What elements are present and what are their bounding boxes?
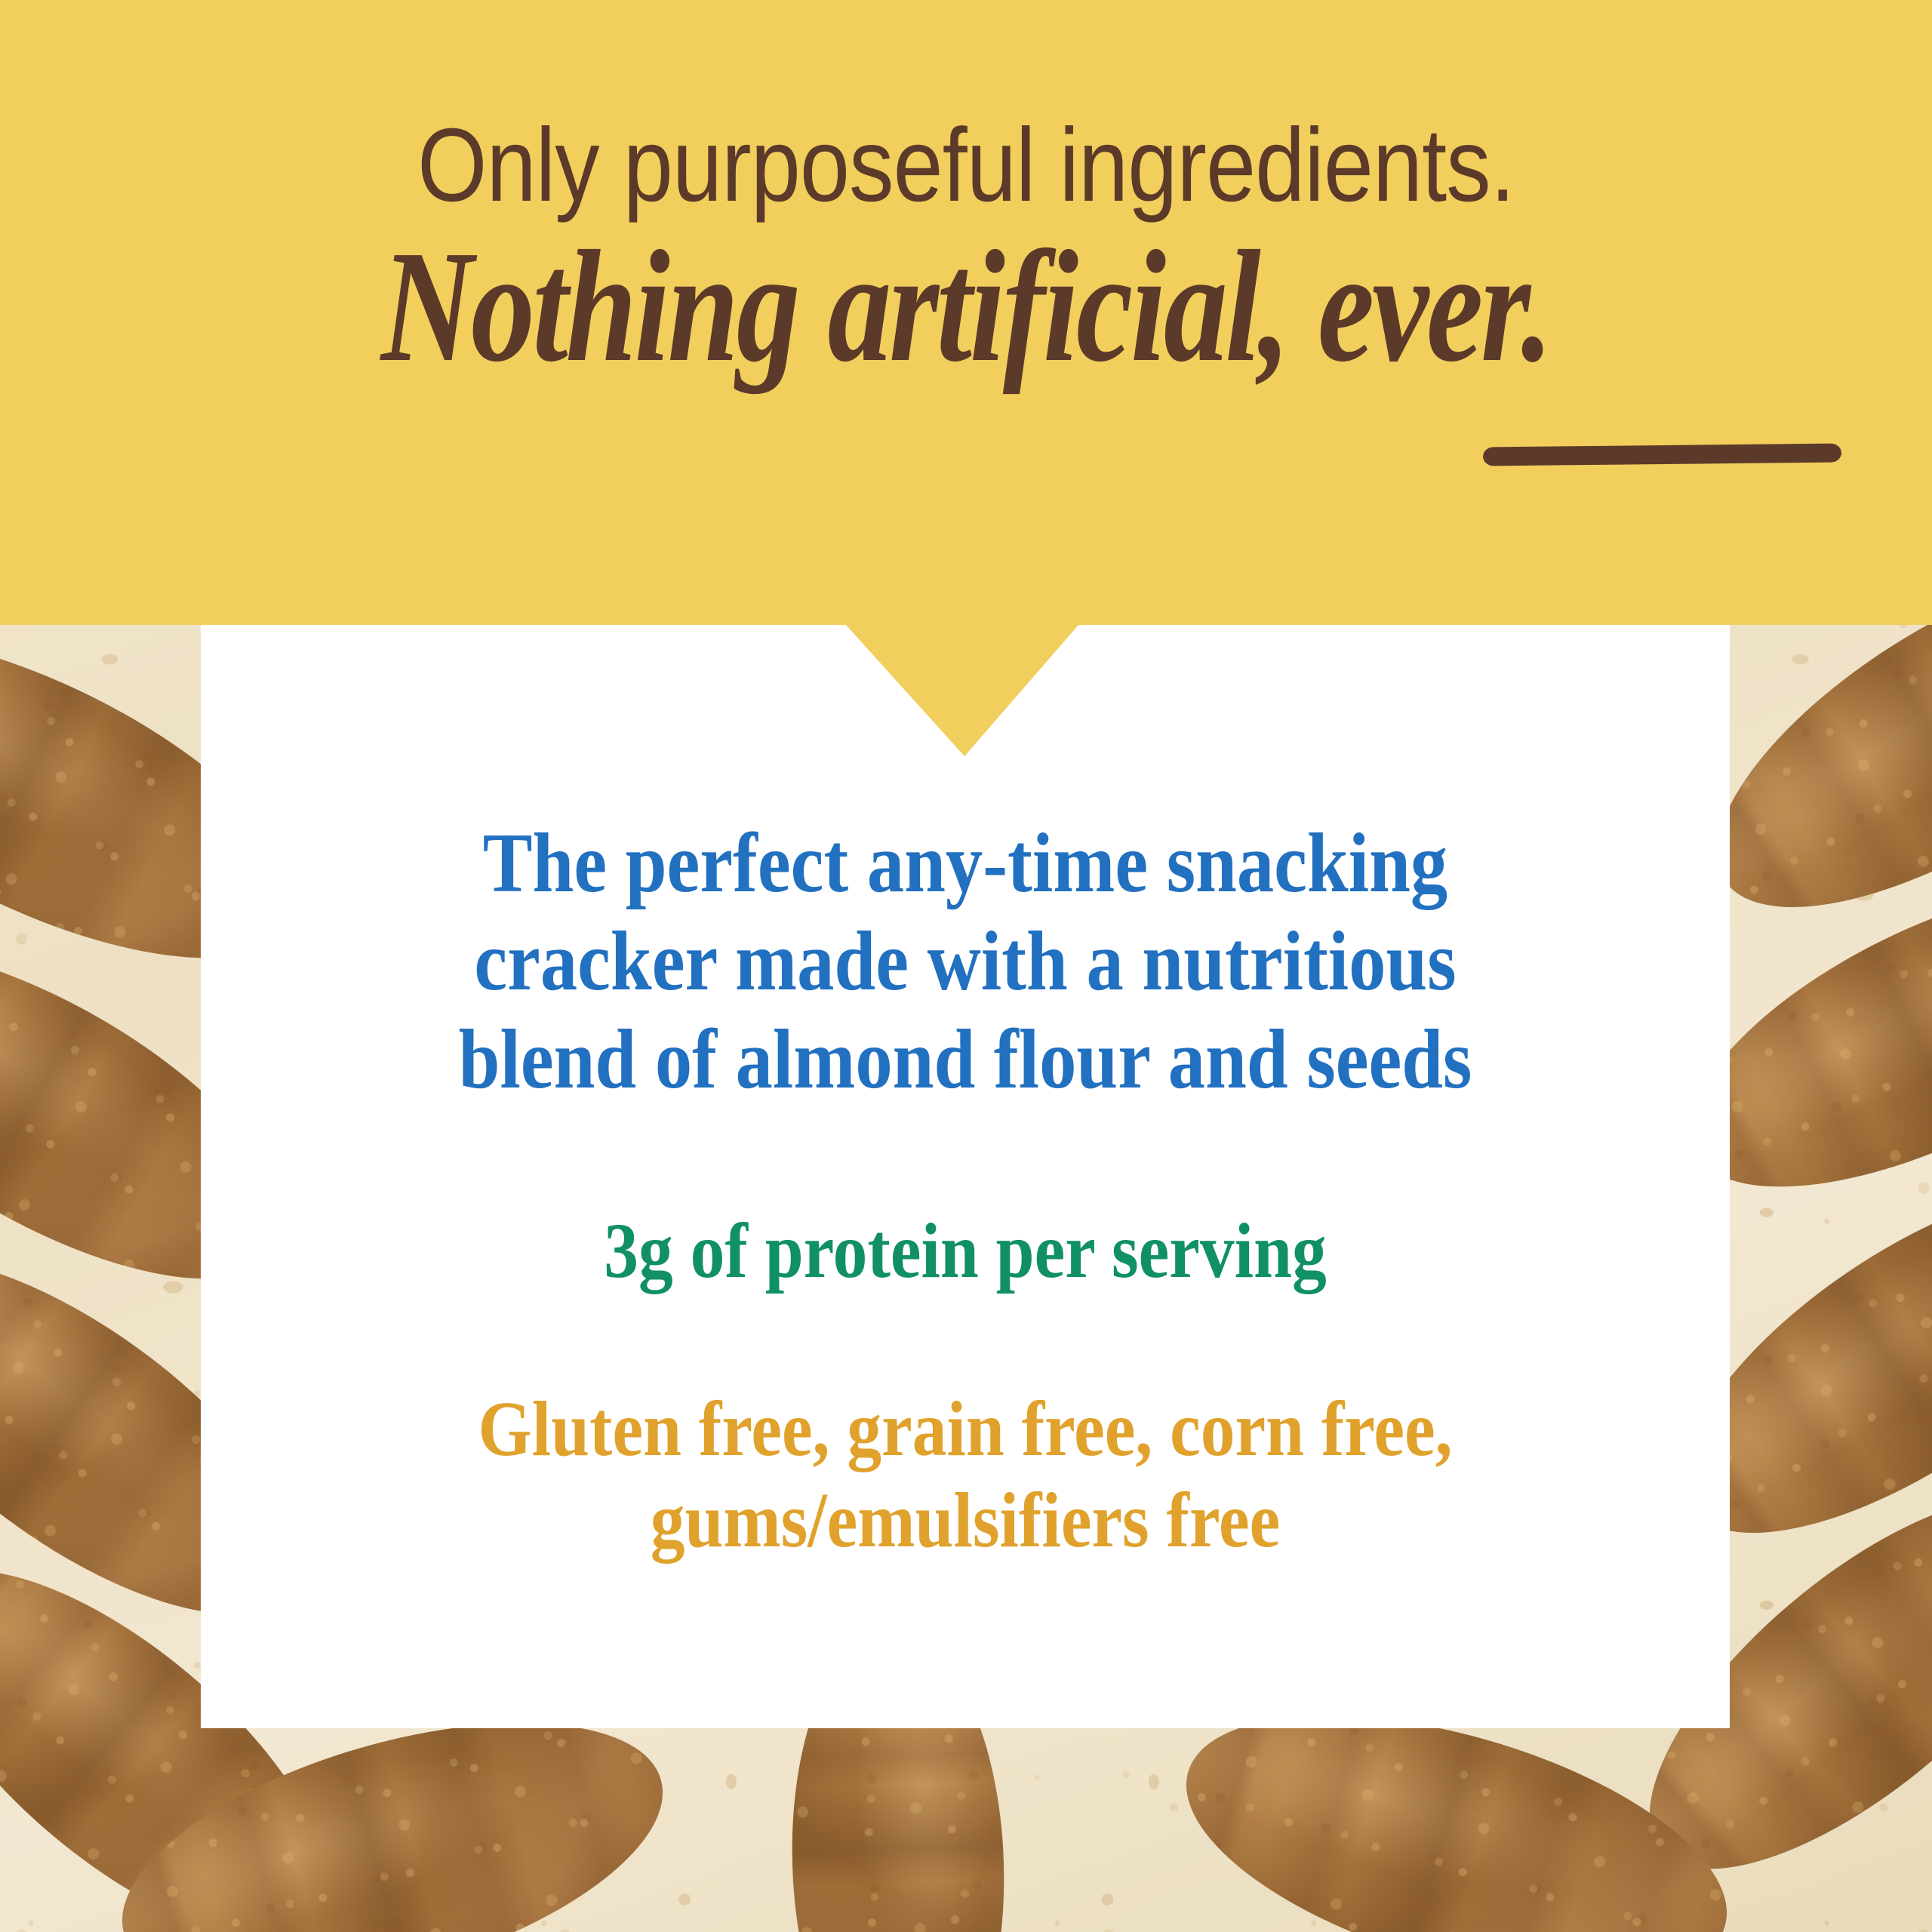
benefit-primary-line-2: cracker made with a nutritious (381, 913, 1550, 1011)
benefit-protein-line-1: 3g of protein per serving (381, 1206, 1550, 1297)
headline-secondary: Nothing artificial, ever. (381, 226, 1551, 386)
benefit-free-from-line-2: gums/emulsifiers free (381, 1475, 1550, 1567)
benefit-free-from-block: Gluten free, grain free, corn free, gums… (381, 1384, 1550, 1566)
headline-banner: Only purposeful ingredients. Nothing art… (0, 0, 1932, 625)
benefit-primary-line-1: The perfect any-time snacking (381, 815, 1550, 913)
product-benefits-panel: Only purposeful ingredients. Nothing art… (0, 0, 1932, 1932)
benefit-protein-block: 3g of protein per serving (381, 1206, 1550, 1297)
benefit-primary-line-3: blend of almond flour and seeds (381, 1011, 1550, 1109)
ever-underline-stroke (1483, 444, 1841, 466)
benefits-card: The perfect any-time snacking cracker ma… (201, 625, 1730, 1728)
headline-secondary-wrap: Nothing artificial, ever. (0, 226, 1932, 386)
headline-primary: Only purposeful ingredients. (135, 113, 1797, 217)
banner-pointer-triangle (845, 624, 1079, 756)
benefit-free-from-line-1: Gluten free, grain free, corn free, (381, 1384, 1550, 1475)
benefit-primary-block: The perfect any-time snacking cracker ma… (381, 815, 1550, 1109)
